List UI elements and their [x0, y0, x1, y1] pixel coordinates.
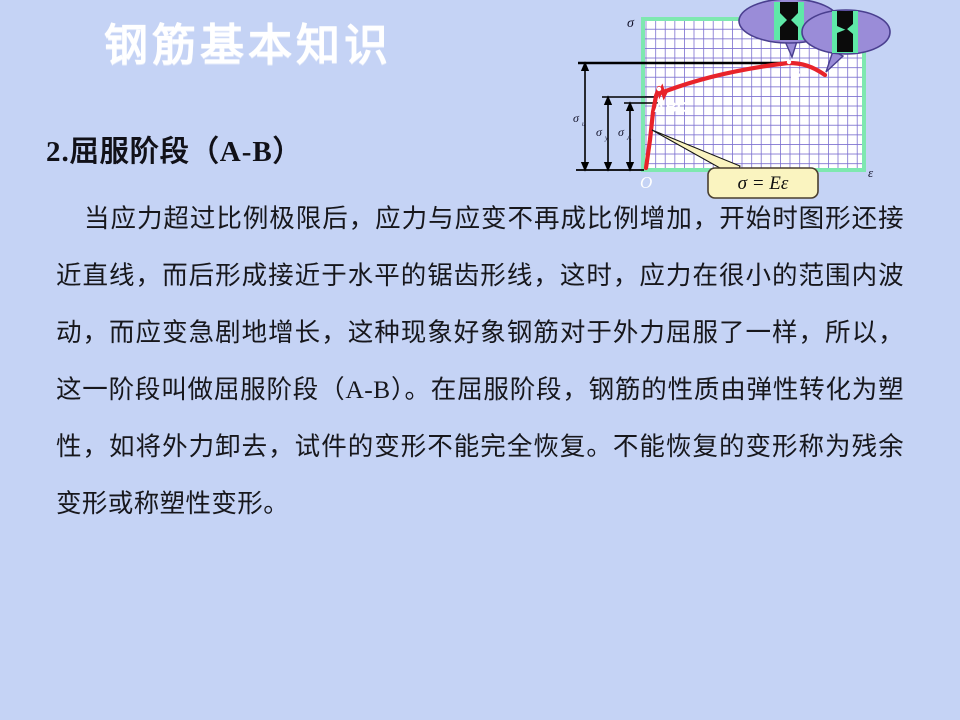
curve-label-c: C — [677, 99, 688, 116]
sigma-u-label: σ — [573, 111, 580, 125]
peak-label: B — [790, 65, 801, 82]
sigma-y-label: σ — [596, 125, 603, 139]
sigma-a-label: σ — [618, 125, 625, 139]
point-b-marker — [787, 60, 791, 64]
curve-label-a: A — [654, 99, 665, 116]
point-a-marker — [657, 87, 661, 91]
curve-label-b: B — [666, 99, 677, 116]
body-paragraph: 当应力超过比例极限后，应力与应变不再成比例增加，开始时图形还接近直线，而后形成接… — [56, 190, 904, 532]
stress-strain-diagram: σ ε O σ u σ y σ A A B C B — [540, 0, 960, 210]
origin-label: O — [640, 173, 652, 192]
axis-x-label: ε — [868, 165, 874, 180]
specimen-fracture-bottom-icon — [837, 29, 853, 52]
formula-text: σ = Eε — [738, 173, 789, 194]
page-title: 钢筋基本知识 — [104, 16, 392, 75]
axis-y-label: σ — [627, 16, 635, 31]
sigma-a-subscript: A — [626, 134, 632, 142]
formula-box: σ = Eε — [708, 168, 818, 198]
section-heading: 2.屈服阶段（A-B） — [46, 128, 303, 170]
sigma-u-subscript: u — [582, 120, 586, 128]
